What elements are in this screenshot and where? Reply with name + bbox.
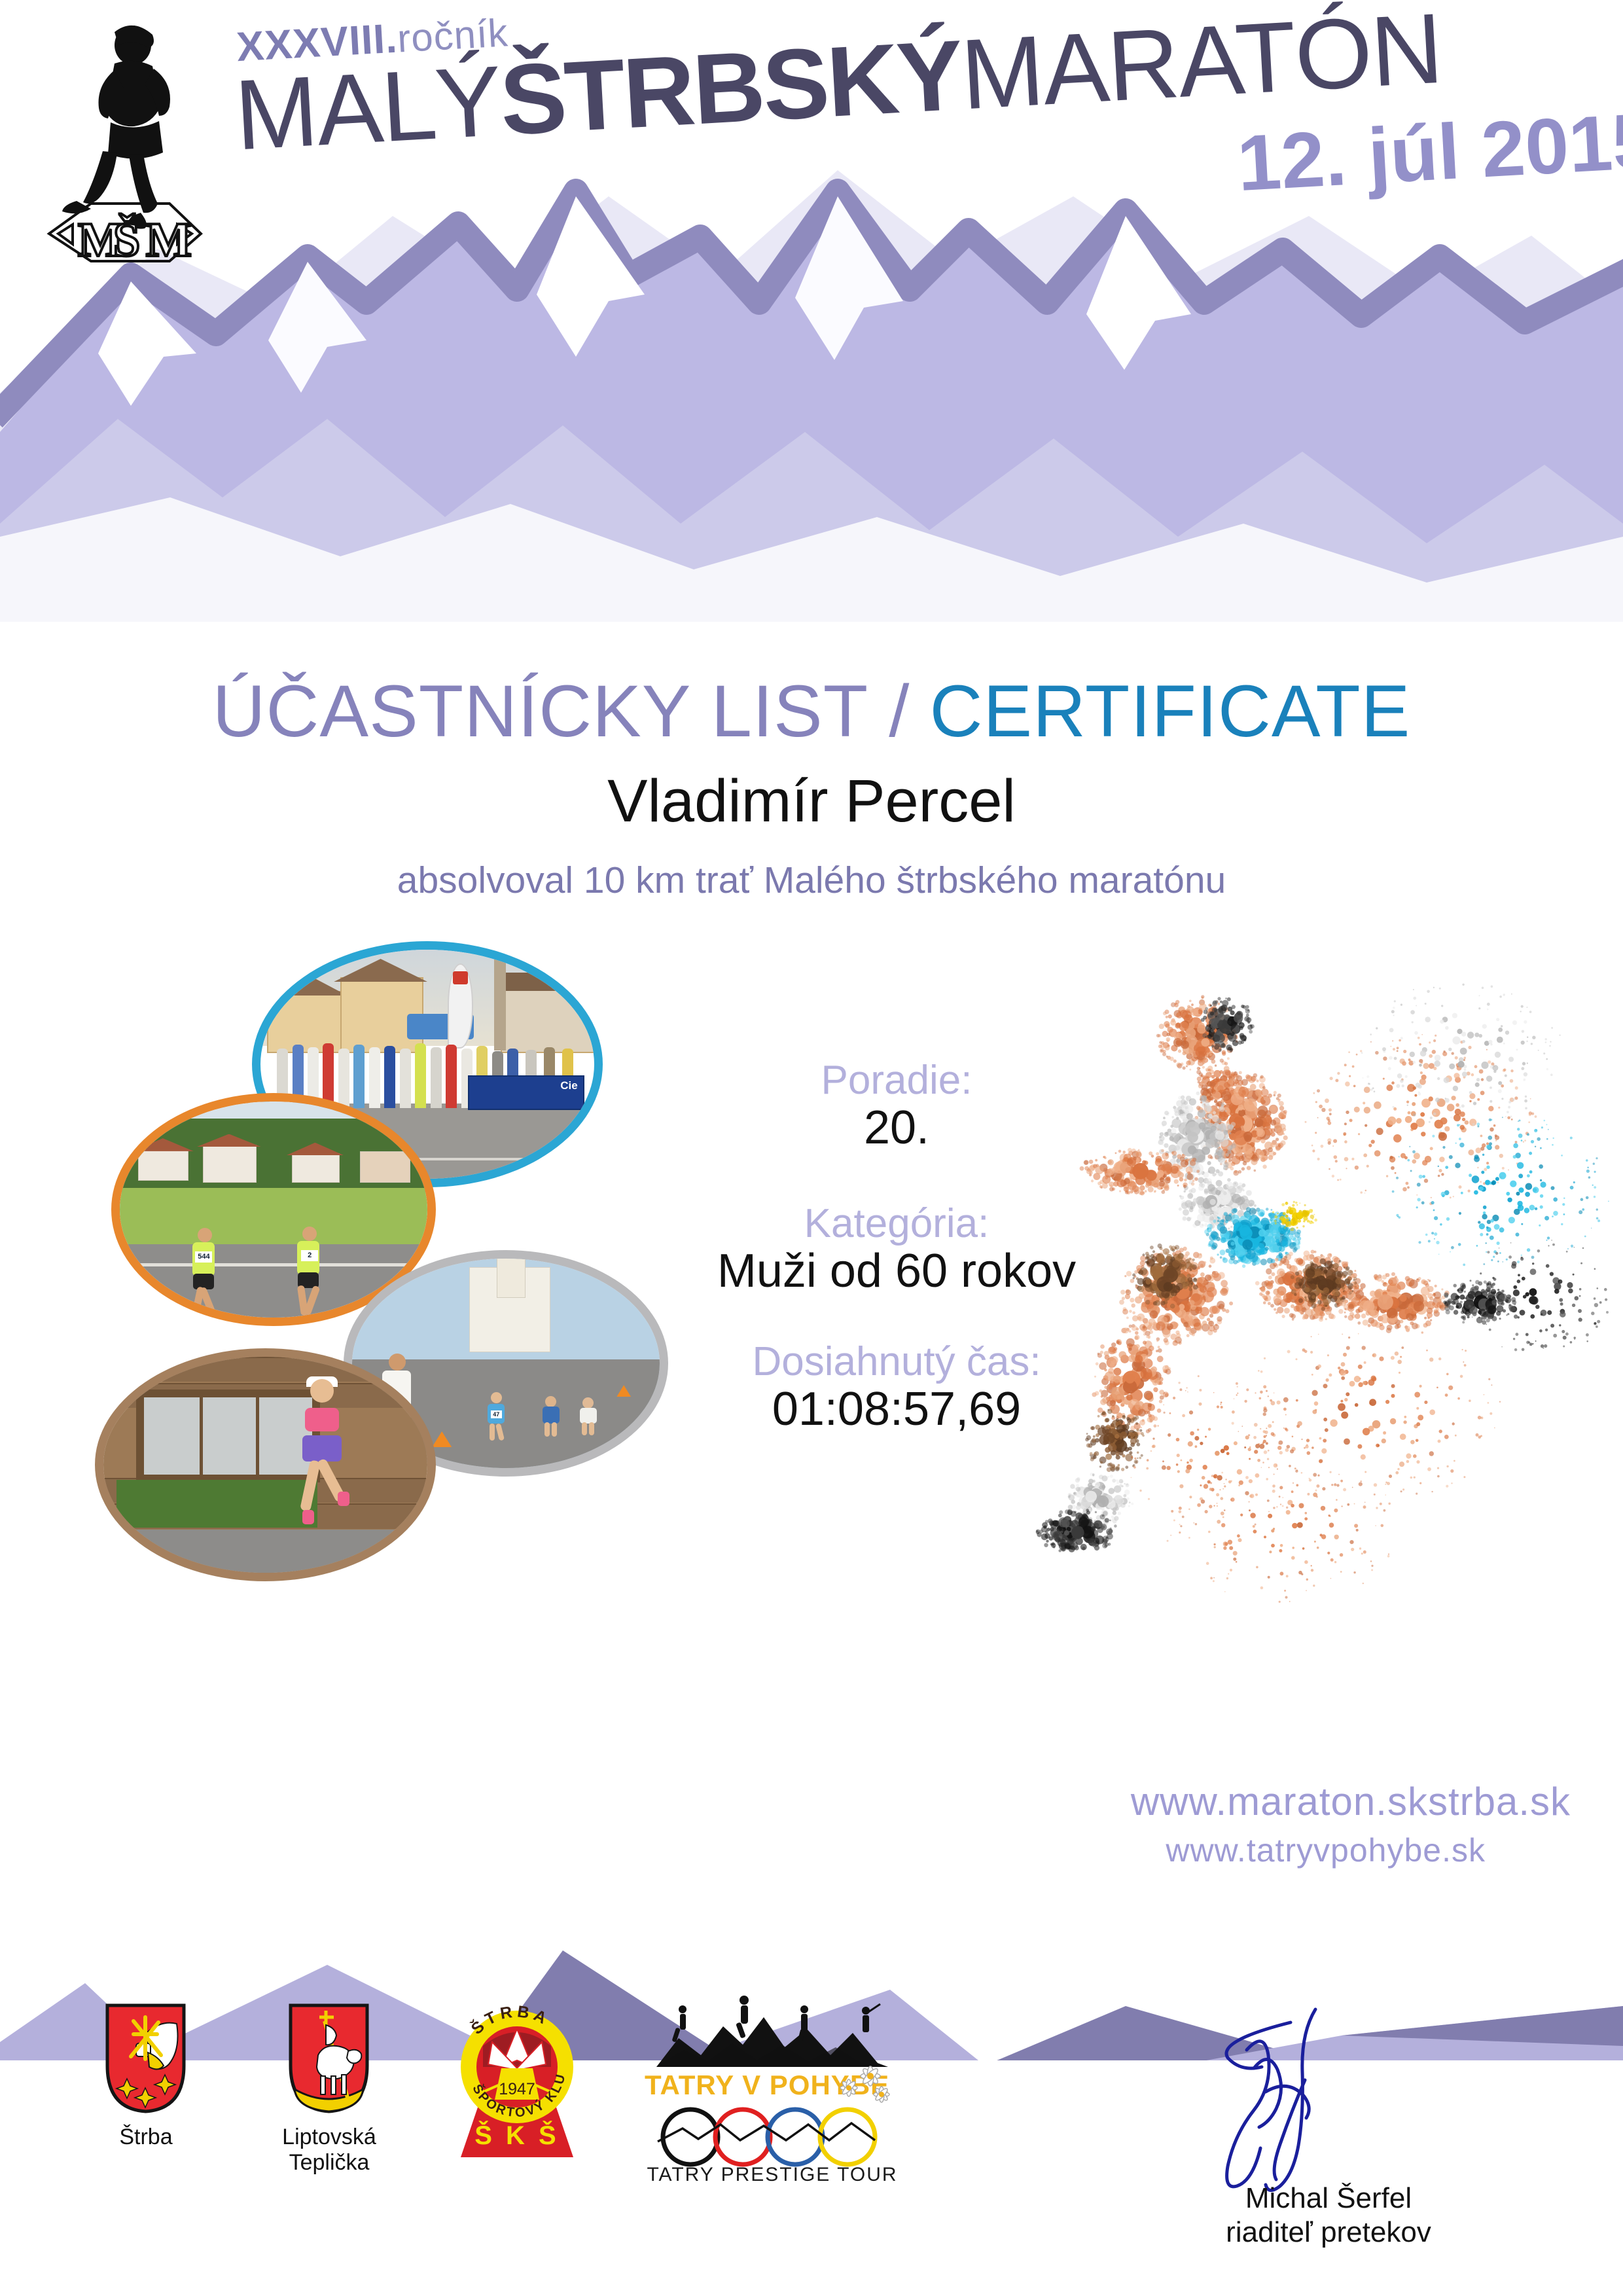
certificate-title-sk: ÚČASTNÍCKY LIST (213, 670, 869, 752)
race-director-name: Michal Šerfel (1152, 2179, 1505, 2217)
crest-label-liptovska-teplicka: Liptovská Teplička (251, 2125, 408, 2176)
header-banner: M Š M XXXVIII.ročník MALÝŠTRBSKÝMARATÓN … (0, 0, 1623, 655)
ring-blue (768, 2109, 823, 2164)
sponsor-banner-text: Cie (560, 1079, 577, 1092)
primary-url[interactable]: www.maraton.skstrba.sk (0, 1779, 1571, 1824)
title-part-maly: MALÝ (232, 45, 504, 171)
certificate-heading: ÚČASTNÍCKY LIST / CERTIFICATE (0, 669, 1623, 753)
tatry-v-pohybe-logo: TATRY V POHYBE (645, 1990, 900, 2179)
tatry-tour-text: TATRY PRESTIGE TOUR (647, 2164, 897, 2185)
certificate-page: M Š M XXXVIII.ročník MALÝŠTRBSKÝMARATÓN … (0, 0, 1623, 2296)
svg-text:M: M (146, 213, 192, 265)
race-director-role: riaditeľ pretekov (1152, 2214, 1505, 2251)
signature-block: Michal Šerfel riaditeľ pretekov (1113, 1970, 1571, 2265)
msm-club-logo: M Š M (36, 16, 213, 265)
secondary-url[interactable]: www.tatryvpohybe.sk (0, 1831, 1486, 1869)
sks-year: 1947 (499, 2080, 535, 2098)
woman-runner-figure (288, 1372, 373, 1536)
bib-number-right: 2 (301, 1250, 318, 1261)
crest-liptovska-teplicka (288, 2003, 370, 2114)
title-part-strbsky: ŠTRBSKÝ (497, 20, 965, 156)
crest-label-strba: Štrba (67, 2125, 224, 2150)
ring-red (715, 2109, 770, 2164)
ring-yellow (820, 2109, 875, 2164)
certificate-title-separator: / (889, 670, 909, 752)
bib-number-left: 544 (195, 1251, 212, 1263)
svg-text:Š: Š (113, 213, 140, 265)
crest-strba (105, 2003, 187, 2114)
sks-club-logo: ŠTRBA ŠPORTOVÝ KLUB 1947 Š K Š (452, 1995, 582, 2159)
ring-black (663, 2109, 718, 2164)
woman-runner-photo (95, 1348, 436, 1581)
certificate-subtitle: absolvoval 10 km trať Malého štrbského m… (0, 859, 1623, 902)
dot-art-runner-graphic (1001, 956, 1610, 1728)
certificate-title-en: CERTIFICATE (929, 670, 1410, 752)
participant-name: Vladimír Percel (0, 767, 1623, 836)
kid-bib-number: 47 (491, 1410, 502, 1418)
photo-collage: Cie 544 (85, 929, 674, 1846)
footer-sponsors: Štrba (0, 1983, 1623, 2271)
event-date: 12. júl 2015 (1235, 96, 1623, 209)
sks-abbrev: Š K Š (474, 2120, 559, 2150)
